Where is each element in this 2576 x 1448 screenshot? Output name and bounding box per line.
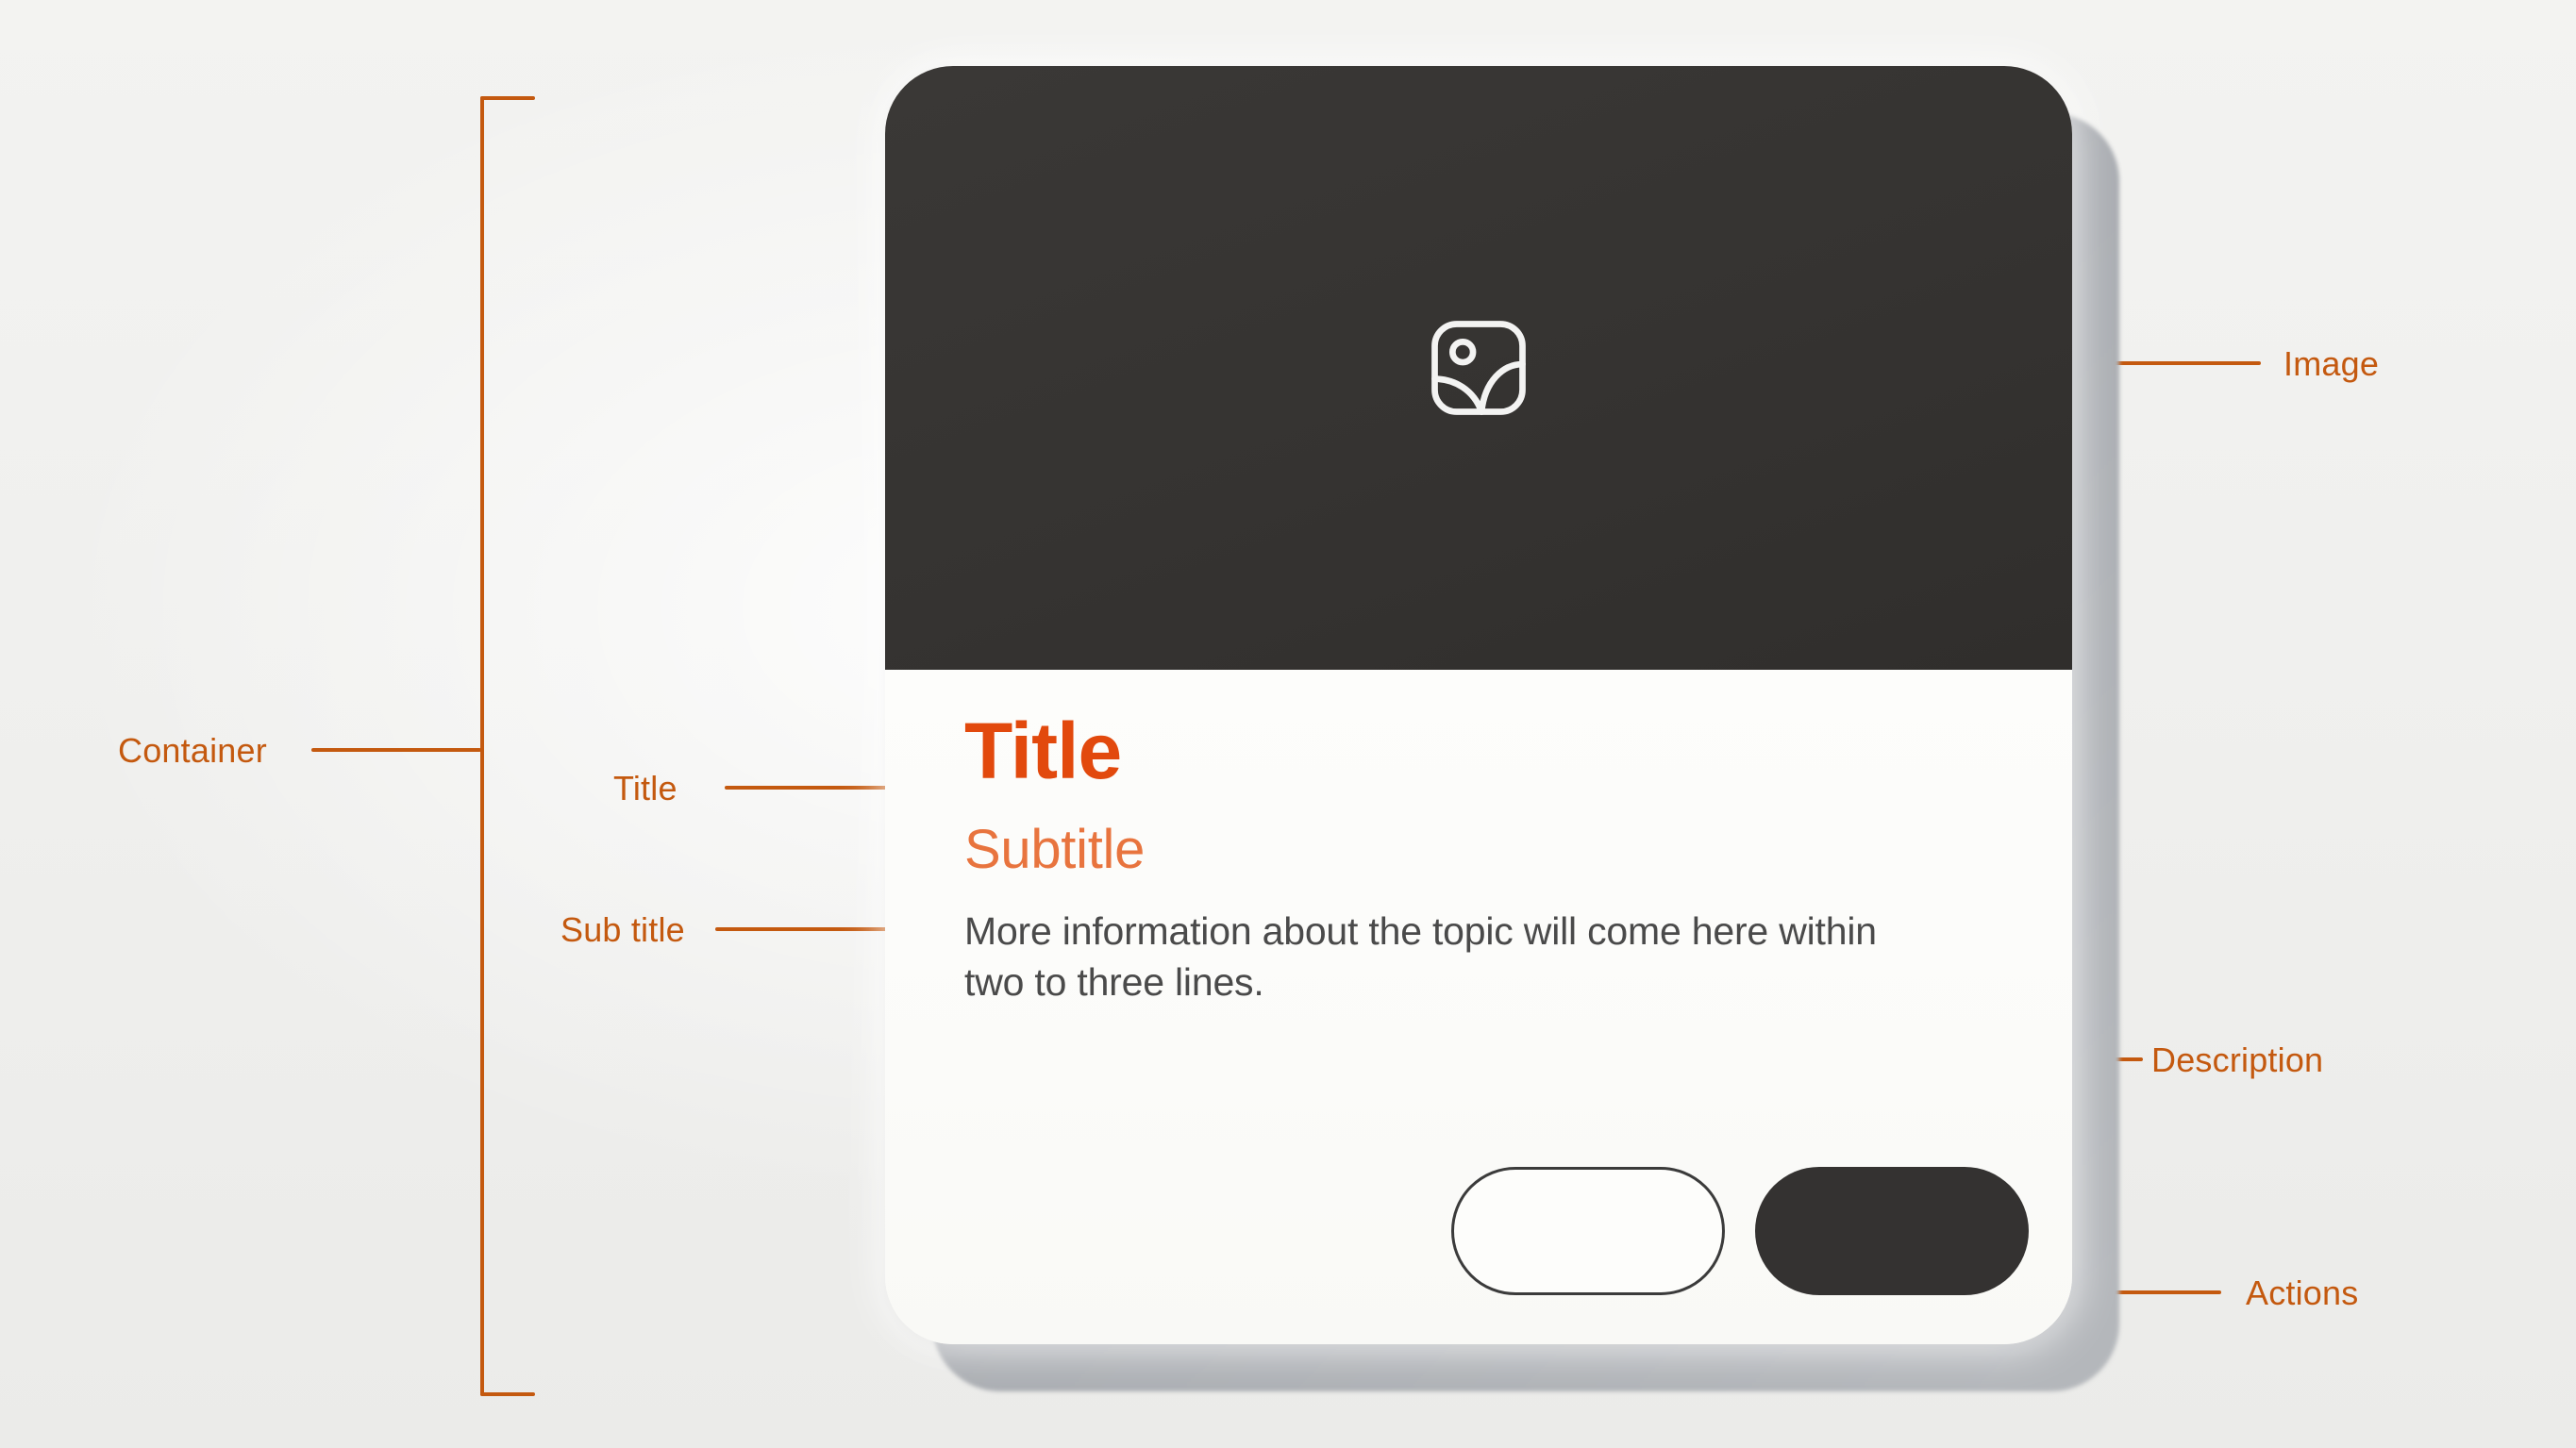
annotation-label-actions: Actions: [2246, 1276, 2358, 1310]
annotation-label-container: Container: [118, 734, 267, 768]
image-leader-line: [2102, 361, 2261, 365]
container-bracket-top-tick: [480, 96, 535, 100]
annotation-label-description: Description: [2151, 1043, 2323, 1077]
card-actions-row: [1451, 1167, 2029, 1295]
card-title: Title: [964, 711, 2072, 791]
card-content-area: Title Subtitle More information about th…: [885, 670, 2072, 1344]
primary-action-button[interactable]: [1755, 1167, 2029, 1295]
annotated-card-diagram: Container Title Sub title Image Descript…: [0, 0, 2576, 1448]
card-description: More information about the topic will co…: [964, 906, 1899, 1007]
annotation-label-subtitle: Sub title: [560, 913, 685, 947]
image-placeholder-icon: [1420, 309, 1537, 426]
annotation-label-image: Image: [2283, 347, 2379, 381]
container-bracket-spine: [480, 96, 484, 1396]
card-image-area: [885, 66, 2072, 670]
container-leader-line: [311, 748, 481, 752]
container-bracket: [480, 96, 537, 1396]
card-subtitle: Subtitle: [964, 823, 2072, 877]
container-bracket-bottom-tick: [480, 1392, 535, 1396]
annotation-label-title: Title: [613, 772, 677, 806]
card-container[interactable]: Title Subtitle More information about th…: [885, 66, 2072, 1344]
subtitle-leader-line: [715, 927, 913, 931]
secondary-action-button[interactable]: [1451, 1167, 1725, 1295]
